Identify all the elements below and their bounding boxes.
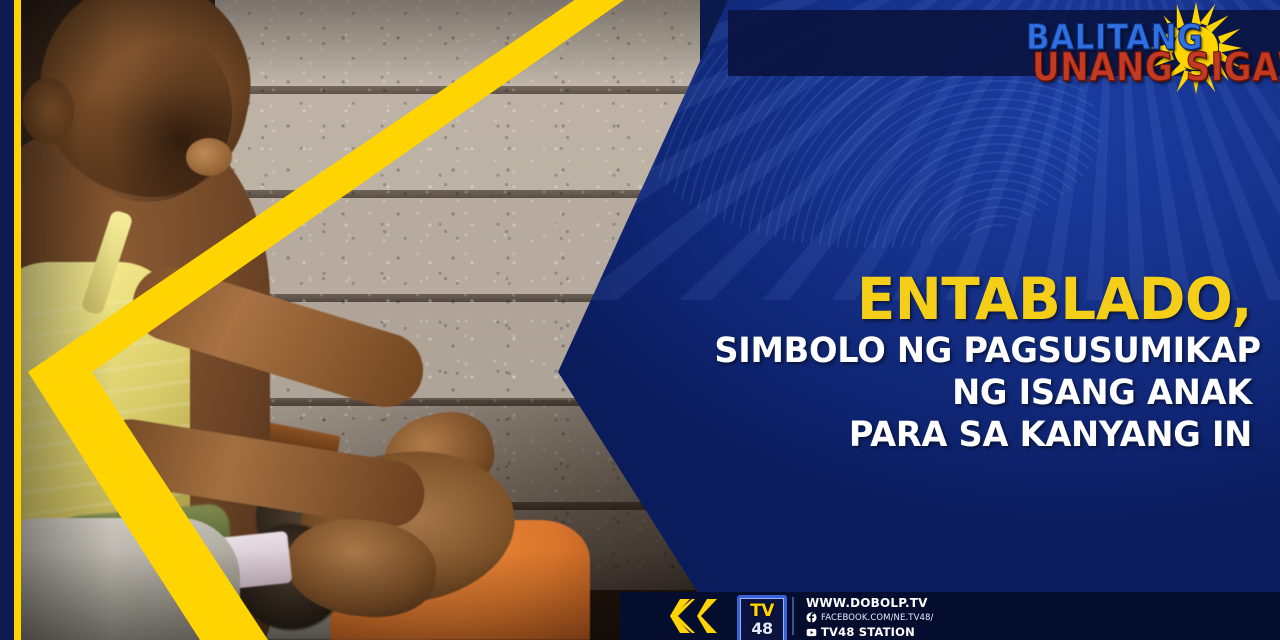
youtube-label: TV48 STATION xyxy=(821,625,915,639)
headline-block: ENTABLADO, SIMBOLO NG PAGSUSUMIKAP NG IS… xyxy=(692,268,1252,456)
logo-line-2: UNANG SIGAW xyxy=(1032,45,1262,91)
chevron-left-icon-2 xyxy=(697,599,722,633)
headline-line-1: SIMBOLO NG PAGSUSUMIKAP xyxy=(714,330,1252,372)
chevron-left-icon-1 xyxy=(670,599,695,633)
light-shorts xyxy=(0,518,240,640)
double-chevron-left-icon xyxy=(670,599,722,633)
contact-info: WWW.DOBOLP.TV FACEBOOK.COM/NE.TV48/ xyxy=(806,596,933,639)
headline-line-2: NG ISANG ANAK xyxy=(714,372,1252,414)
news-thumbnail: BALITANG UNANG SIGAW ENTABLADO, SIMBOLO … xyxy=(0,0,1280,640)
youtube-icon xyxy=(806,627,817,638)
tv48-logo-bottom: 48 xyxy=(751,621,772,637)
website-url[interactable]: WWW.DOBOLP.TV xyxy=(806,596,933,610)
left-edge-navy-bar xyxy=(0,0,14,640)
facebook-label: FACEBOOK.COM/NE.TV48/ xyxy=(821,613,933,623)
tv48-station-logo: TV 48 xyxy=(737,595,787,640)
facebook-icon xyxy=(806,612,817,623)
nose xyxy=(186,138,232,176)
youtube-row[interactable]: TV48 STATION xyxy=(806,625,933,639)
headline-line-3: PARA SA KANYANG IN xyxy=(714,414,1252,456)
left-edge-yellow-bar xyxy=(14,0,21,640)
facebook-row[interactable]: FACEBOOK.COM/NE.TV48/ xyxy=(806,612,933,623)
channel-logo: BALITANG UNANG SIGAW xyxy=(1026,4,1258,90)
headline-main: ENTABLADO, xyxy=(709,268,1252,330)
ear xyxy=(22,78,74,144)
vertical-divider xyxy=(792,597,794,635)
bottom-info-bar: TV 48 WWW.DOBOLP.TV FACEBOOK.COM/NE.TV48… xyxy=(620,592,1280,640)
tv48-logo-top: TV xyxy=(750,603,774,620)
